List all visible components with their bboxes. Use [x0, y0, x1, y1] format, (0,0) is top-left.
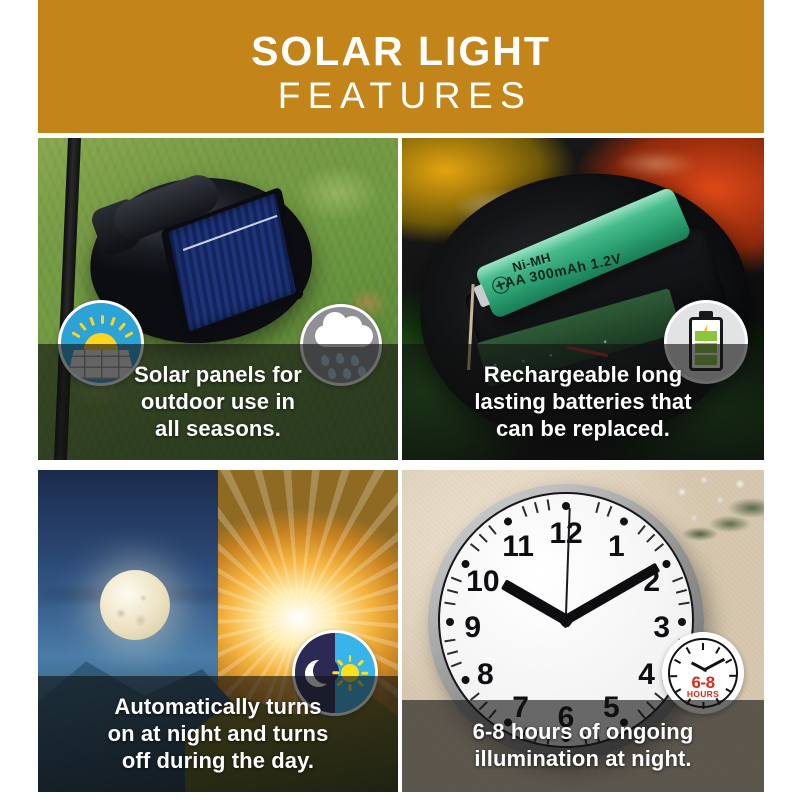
- minute-tick: [676, 589, 687, 594]
- feature-card-solar-panels: Solar panels for outdoor use in all seas…: [38, 138, 398, 460]
- clock-number-10: 10: [466, 565, 499, 599]
- hour-dot: [678, 618, 686, 626]
- caption-line-1: 6-8 hours of ongoing: [473, 719, 694, 744]
- minute-tick: [451, 577, 462, 583]
- feature-card-auto-dusk-to-dawn: Automatically turns on at night and turn…: [38, 470, 398, 792]
- sun-ray: [110, 317, 116, 326]
- caption-line-3: off during the day.: [122, 748, 314, 773]
- caption-rechargeable-batteries: Rechargeable long lasting batteries that…: [402, 344, 764, 460]
- minute-tick: [488, 525, 496, 535]
- clock-number-9: 9: [464, 611, 481, 645]
- full-moon: [100, 570, 170, 640]
- sun-ray: [349, 655, 352, 662]
- charge-bar: [695, 331, 717, 341]
- caption-runtime-hours: 6-8 hours of ongoing illumination at nig…: [402, 700, 764, 792]
- caption-line-1: Rechargeable long: [484, 362, 683, 387]
- badge-tick: [685, 647, 691, 654]
- header-banner: SOLAR LIGHT FEATURES: [38, 0, 764, 133]
- hour-dot: [661, 559, 672, 570]
- badge-tick: [674, 658, 681, 664]
- caption-line-3: can be replaced.: [496, 416, 670, 441]
- infographic-page: SOLAR LIGHT FEATURES: [0, 0, 800, 800]
- minute-tick: [607, 506, 613, 517]
- caption-line-2: on at night and turns: [108, 721, 329, 746]
- minute-tick: [451, 662, 462, 668]
- caption-line-1: Automatically turns: [114, 694, 321, 719]
- caption-line-2: lasting batteries that: [474, 389, 691, 414]
- caption-line-2: illumination at night.: [474, 746, 691, 771]
- minute-tick: [547, 499, 551, 510]
- caption-solar-panels: Solar panels for outdoor use in all seas…: [38, 344, 398, 460]
- minute-tick: [678, 602, 689, 606]
- clock-number-11: 11: [502, 530, 534, 564]
- sun-ray: [101, 315, 104, 324]
- minute-tick: [646, 534, 655, 543]
- feature-card-runtime-hours: 12 1 2 3 4 5 6 7 8 9 10 11: [402, 470, 764, 792]
- sun-ray: [332, 672, 339, 675]
- caption-line-1: Solar panels for: [134, 362, 302, 387]
- minute-tick: [447, 589, 458, 594]
- badge-tick: [702, 643, 704, 650]
- caption-line-3: all seasons.: [155, 416, 281, 441]
- badge-minute-hand: [702, 658, 725, 672]
- hour-dot: [619, 516, 630, 527]
- clock-number-4: 4: [638, 658, 655, 692]
- minute-tick: [444, 602, 455, 606]
- minute-tick: [654, 543, 664, 551]
- sun-ray: [79, 322, 87, 331]
- badge-tick: [715, 647, 721, 654]
- minute-tick: [534, 502, 539, 513]
- hour-dot: [446, 618, 454, 626]
- hour-dot: [460, 675, 471, 686]
- clock-number-1: 1: [608, 530, 625, 564]
- sun-ray: [71, 331, 80, 338]
- minute-tick: [672, 577, 683, 583]
- minute-tick: [637, 525, 645, 535]
- feature-card-rechargeable-batteries: Ni-MH AA 300mAh 1.2V Rechargeable long: [402, 138, 764, 460]
- minute-tick: [595, 502, 600, 513]
- sun-ray: [124, 331, 133, 338]
- badge-hours-sublabel: HOURS: [670, 690, 736, 699]
- minute-tick: [522, 506, 528, 517]
- clock-number-8: 8: [477, 658, 494, 692]
- page-title-line2: FEATURES: [270, 74, 533, 118]
- sun-ray: [89, 317, 95, 326]
- page-title-line1: SOLAR LIGHT: [251, 28, 551, 74]
- minute-tick: [479, 534, 488, 543]
- caption-line-2: outdoor use in: [141, 389, 295, 414]
- minute-tick: [444, 639, 455, 643]
- hand-center-cap: [560, 614, 573, 627]
- badge-tick: [725, 658, 732, 664]
- caption-auto-dusk-to-dawn: Automatically turns on at night and turn…: [38, 676, 398, 792]
- hour-dot: [503, 516, 514, 527]
- minute-tick: [447, 650, 458, 655]
- badge-clock-face: 6-8 HOURS: [668, 638, 738, 708]
- clock-number-12: 12: [549, 517, 582, 551]
- minute-tick: [470, 543, 480, 551]
- feature-grid: Solar panels for outdoor use in all seas…: [38, 138, 764, 792]
- sun-ray: [118, 322, 126, 331]
- sun-ray: [361, 672, 368, 675]
- clock-number-3: 3: [653, 611, 670, 645]
